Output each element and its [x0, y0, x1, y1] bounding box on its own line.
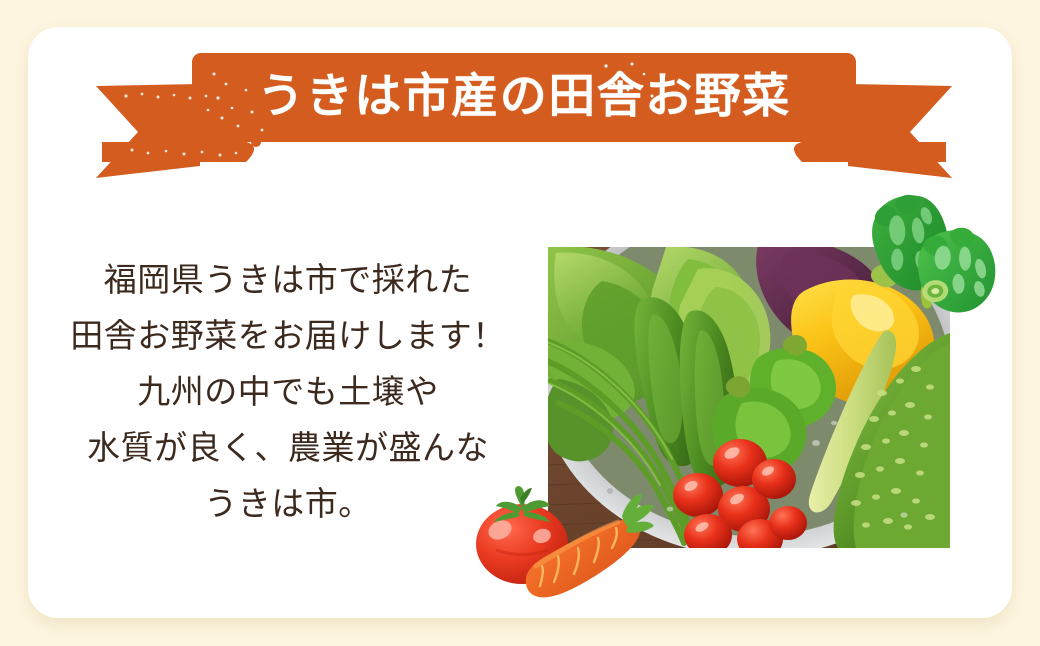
- ribbon-fold-right: [794, 142, 946, 162]
- vegetable-photo: [548, 247, 950, 548]
- banner-title: うきは市産の田舎お野菜: [96, 50, 952, 142]
- title-ribbon: うきは市産の田舎お野菜: [96, 50, 952, 178]
- description-line-3: 九州の中でも土壌や: [58, 364, 518, 420]
- page-root: うきは市産の田舎お野菜 福岡県うきは市で採れた 田舎お野菜をお届けします！ 九州…: [0, 0, 1040, 646]
- description-line-2: 田舎お野菜をお届けします！: [58, 308, 518, 364]
- description-line-1: 福岡県うきは市で採れた: [58, 252, 518, 308]
- description-line-4: 水質が良く、農業が盛んな: [58, 420, 518, 476]
- description-line-5: うきは市。: [58, 476, 518, 532]
- description-block: 福岡県うきは市で採れた 田舎お野菜をお届けします！ 九州の中でも土壌や 水質が良…: [58, 252, 518, 532]
